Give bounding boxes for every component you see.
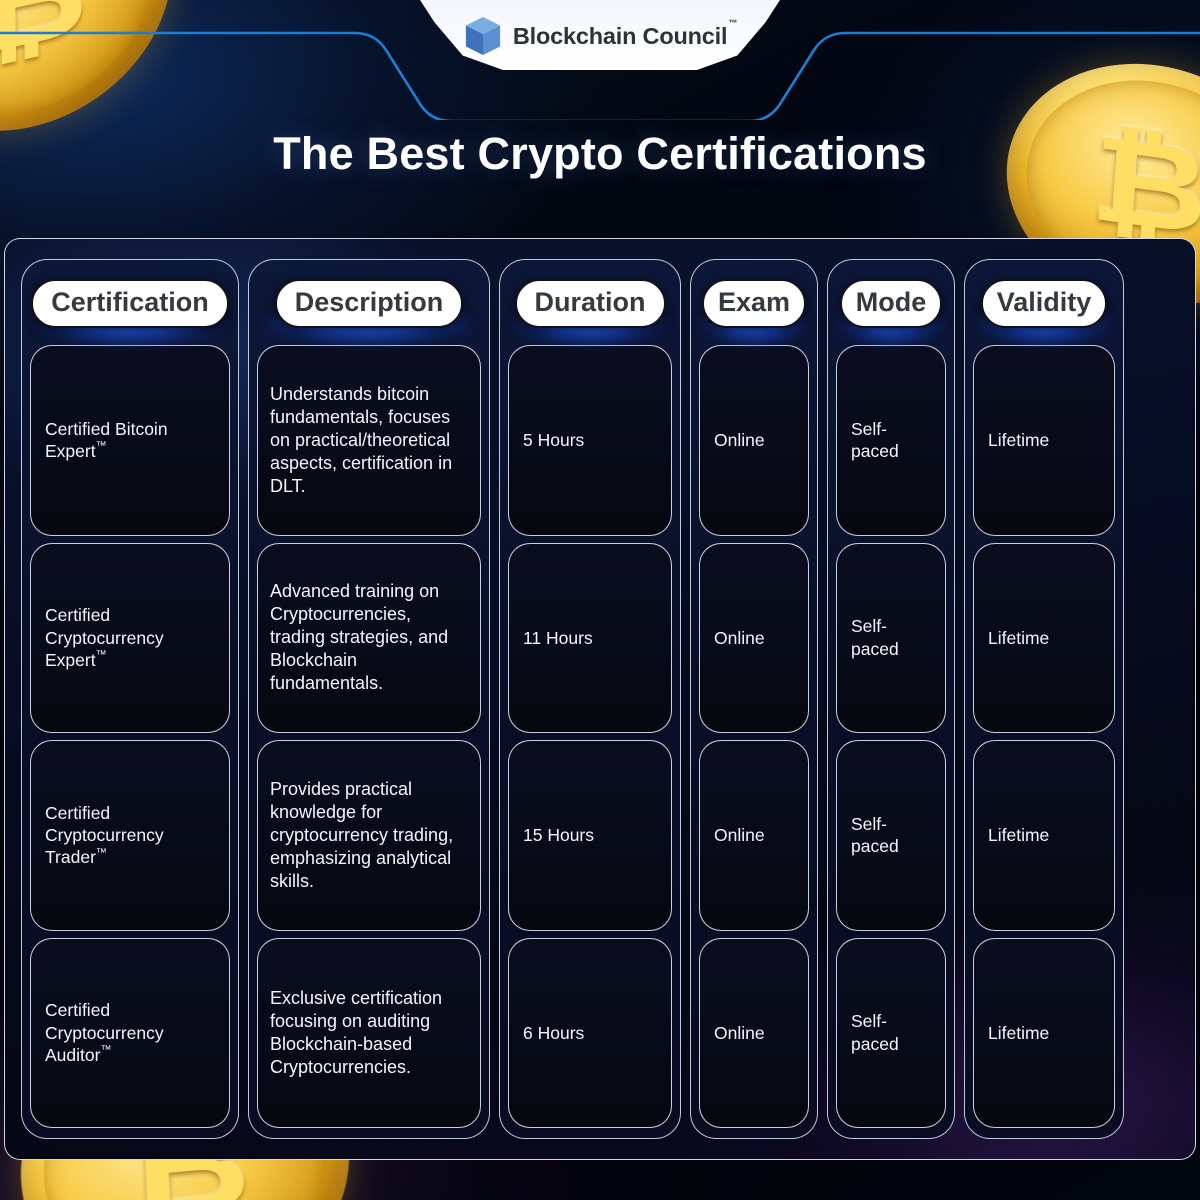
- table-cell-certification-1: Certified Bitcoin Expert™: [30, 345, 230, 536]
- table-column-mode: Mode Self-paced Self-paced Self-paced Se…: [827, 259, 955, 1139]
- table-cell-duration-1: 5 Hours: [508, 345, 672, 536]
- infographic-page: ₿ ₿ ₿ Blockchain Council™ The Best Crypt…: [0, 0, 1200, 1200]
- column-header-mode: Mode: [836, 268, 946, 338]
- brand-logo: Blockchain Council™: [398, 8, 802, 64]
- table-cell-mode-4: Self-paced: [836, 938, 946, 1129]
- cube-icon: [464, 16, 502, 56]
- column-header-exam: Exam: [699, 268, 809, 338]
- table-cell-validity-3: Lifetime: [973, 740, 1115, 931]
- table-cell-mode-1: Self-paced: [836, 345, 946, 536]
- header-pill-validity: Validity: [981, 279, 1108, 328]
- table-cell-description-1: Understands bitcoin fundamentals, focuse…: [257, 345, 481, 536]
- column-header-duration: Duration: [508, 268, 672, 338]
- header-pill-exam: Exam: [702, 279, 806, 328]
- logo-name: Blockchain Council: [513, 23, 727, 49]
- table-cell-validity-1: Lifetime: [973, 345, 1115, 536]
- table-cell-description-3: Provides practical knowledge for cryptoc…: [257, 740, 481, 931]
- table-column-certification: Certification Certified Bitcoin Expert™ …: [21, 259, 239, 1139]
- table-column-validity: Validity Lifetime Lifetime Lifetime Life…: [964, 259, 1124, 1139]
- column-header-description: Description: [257, 268, 481, 338]
- table-cell-validity-2: Lifetime: [973, 543, 1115, 734]
- table-column-exam: Exam Online Online Online Online: [690, 259, 818, 1139]
- column-header-validity: Validity: [973, 268, 1115, 338]
- header-pill-certification: Certification: [31, 279, 229, 328]
- table-cell-duration-3: 15 Hours: [508, 740, 672, 931]
- table-cell-mode-3: Self-paced: [836, 740, 946, 931]
- table-cell-exam-4: Online: [699, 938, 809, 1129]
- column-header-certification: Certification: [30, 268, 230, 338]
- table-cell-certification-4: Certified Cryptocurrency Auditor™: [30, 938, 230, 1129]
- table-column-duration: Duration 5 Hours 11 Hours 15 Hours 6 Hou…: [499, 259, 681, 1139]
- page-title: The Best Crypto Certifications: [0, 128, 1200, 180]
- table-cell-certification-3: Certified Cryptocurrency Trader™: [30, 740, 230, 931]
- trademark: ™: [96, 847, 107, 859]
- certifications-table: Certification Certified Bitcoin Expert™ …: [4, 238, 1196, 1160]
- table-column-description: Description Understands bitcoin fundamen…: [248, 259, 490, 1139]
- table-cell-exam-3: Online: [699, 740, 809, 931]
- header-pill-mode: Mode: [840, 279, 943, 328]
- table-cell-certification-2: Certified Cryptocurrency Expert™: [30, 543, 230, 734]
- trademark: ™: [96, 440, 107, 452]
- table-cell-description-4: Exclusive certification focusing on audi…: [257, 938, 481, 1129]
- table-cell-exam-1: Online: [699, 345, 809, 536]
- table-cell-duration-2: 11 Hours: [508, 543, 672, 734]
- table-cell-description-2: Advanced training on Cryptocurrencies, t…: [257, 543, 481, 734]
- table-cell-duration-4: 6 Hours: [508, 938, 672, 1129]
- logo-text: Blockchain Council™: [513, 23, 736, 50]
- logo-trademark: ™: [728, 18, 737, 28]
- trademark: ™: [96, 649, 107, 661]
- table-cell-validity-4: Lifetime: [973, 938, 1115, 1129]
- header-pill-description: Description: [275, 279, 464, 328]
- trademark: ™: [100, 1044, 111, 1056]
- table-cell-mode-2: Self-paced: [836, 543, 946, 734]
- table-cell-exam-2: Online: [699, 543, 809, 734]
- header-pill-duration: Duration: [515, 279, 666, 328]
